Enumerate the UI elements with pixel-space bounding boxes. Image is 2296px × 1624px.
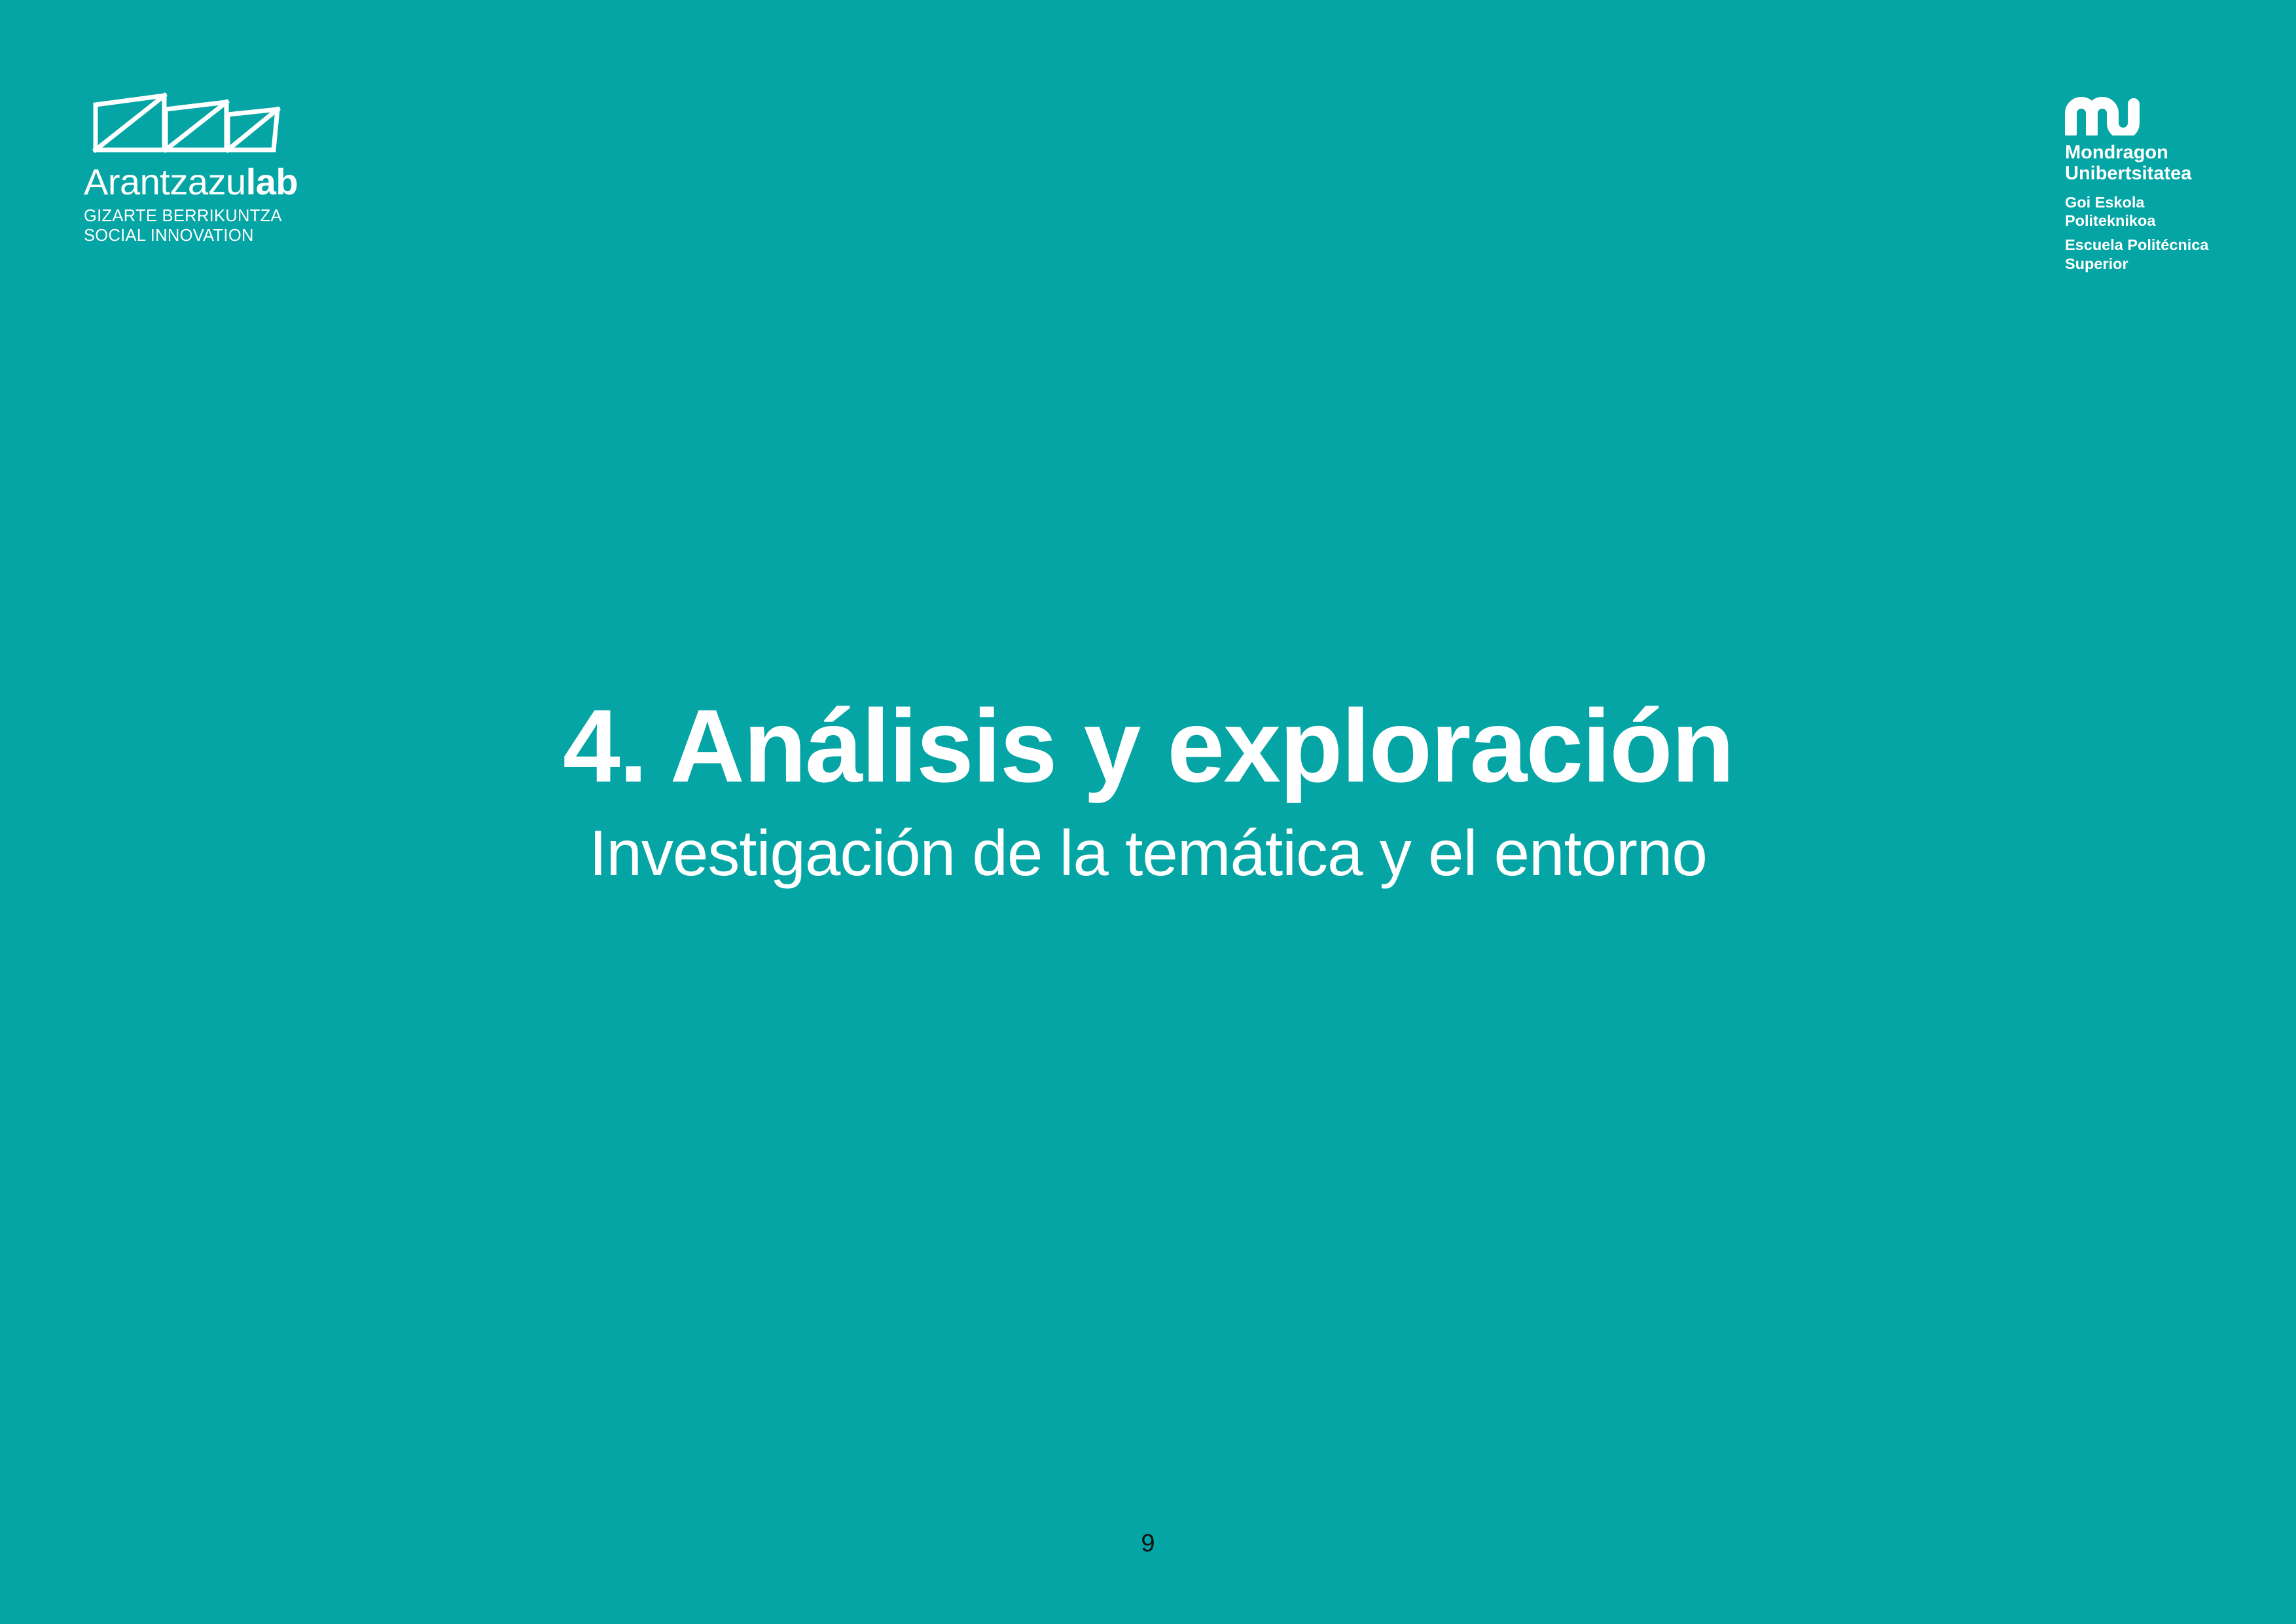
- mondragon-name-line1: Mondragon: [2065, 142, 2261, 163]
- mondragon-name: Mondragon Unibertsitatea: [2065, 142, 2261, 185]
- slide-title: 4. Análisis y exploración: [0, 691, 2296, 803]
- slide-subtitle: Investigación de la temática y el entorn…: [0, 818, 2296, 889]
- wordmark-part2: lab: [246, 161, 298, 202]
- arantzazulab-three-panels-icon: [84, 90, 287, 154]
- school-basque-line2: Politeknikoa: [2065, 211, 2261, 230]
- tagline-basque: GIZARTE BERRIKUNTZA: [84, 206, 319, 226]
- page-number: 9: [0, 1530, 2296, 1558]
- arantzazulab-logo: Arantzazulab GIZARTE BERRIKUNTZA SOCIAL …: [84, 90, 319, 245]
- wordmark-part1: Arantzazu: [84, 161, 246, 202]
- tagline-english: SOCIAL INNOVATION: [84, 226, 319, 245]
- arantzazulab-wordmark: Arantzazulab: [84, 164, 319, 200]
- mondragon-name-line2: Unibertsitatea: [2065, 163, 2261, 184]
- mondragon-school-names: Goi Eskola Politeknikoa Escuela Politécn…: [2065, 193, 2261, 273]
- slide-heading-block: 4. Análisis y exploración Investigación …: [0, 691, 2296, 888]
- school-basque-line1: Goi Eskola: [2065, 193, 2261, 211]
- school-spanish-line2: Superior: [2065, 255, 2261, 273]
- school-spanish-line1: Escuela Politécnica: [2065, 236, 2261, 254]
- mondragon-unibertsitatea-logo: Mondragon Unibertsitatea Goi Eskola Poli…: [2065, 95, 2261, 273]
- mondragon-mu-wave-icon: [2065, 95, 2145, 135]
- arantzazulab-taglines: GIZARTE BERRIKUNTZA SOCIAL INNOVATION: [84, 206, 319, 245]
- school-name-spacer: [2065, 230, 2261, 236]
